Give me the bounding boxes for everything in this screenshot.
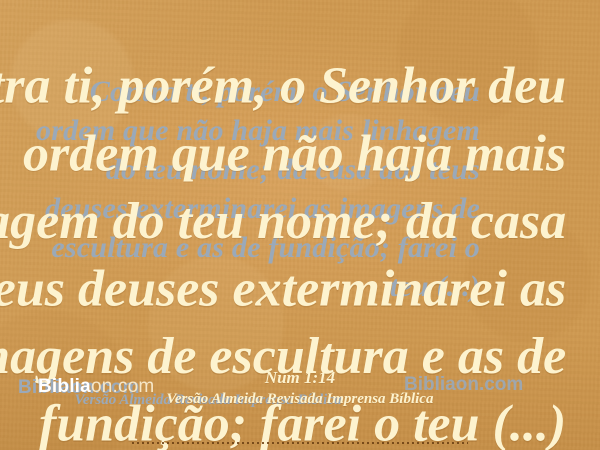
footer: Bibliaon.com Bibliaon.com Bibliaon.com V…: [0, 358, 600, 450]
dotted-rule: [132, 442, 468, 444]
verse-image-canvas: Contra ti, porém, o Senhor deu ordem que…: [0, 0, 600, 450]
reference-block: Num 1:14 Versão Almeida Revisada Imprens…: [0, 368, 600, 408]
verse-reference: Num 1:14: [0, 368, 600, 388]
bible-version-label: Versão Almeida Revisada Imprensa Bíblica: [0, 391, 600, 408]
